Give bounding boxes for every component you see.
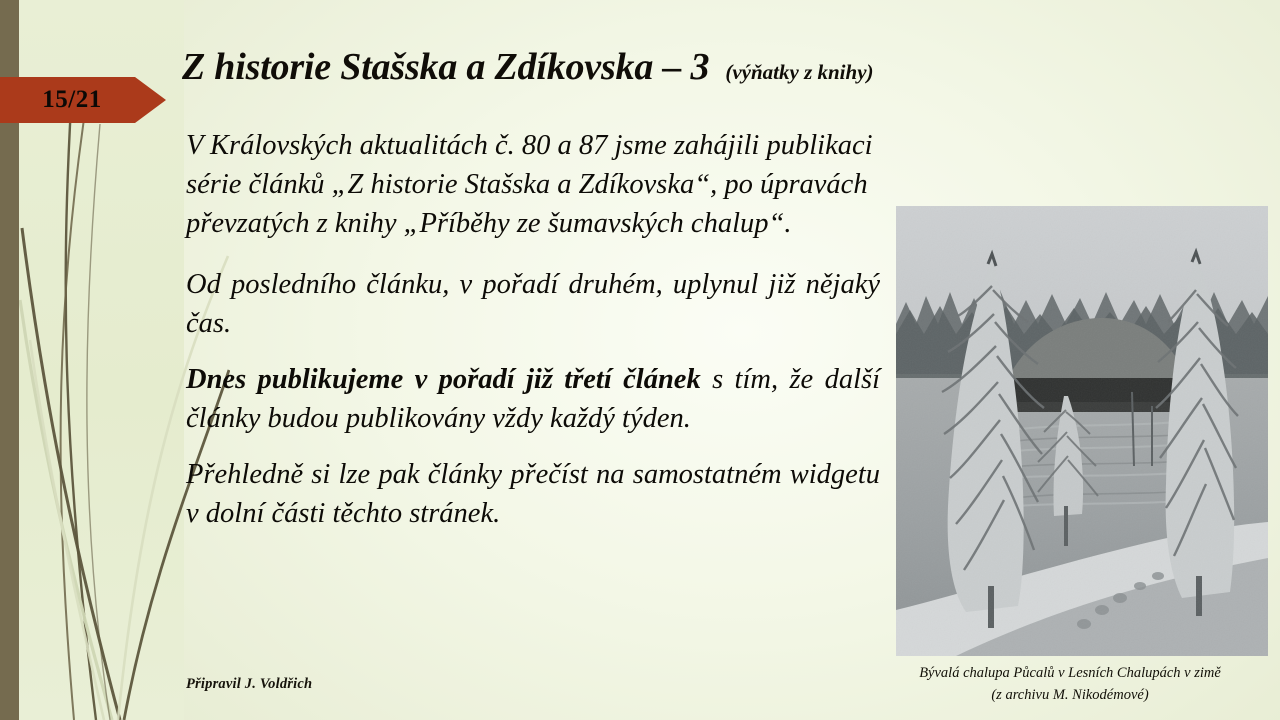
presentation-slide: 15/21 Z historie Stašska a Zdíkovska – 3… [0, 0, 1280, 720]
photo-caption: Bývalá chalupa Půcalů v Lesních Chalupác… [860, 662, 1280, 707]
slide-number-badge: 15/21 [0, 77, 166, 123]
slide-body-text: V Královských aktualitách č. 80 a 87 jsm… [186, 126, 880, 533]
paragraph-widget-note: Přehledně si lze pak články přečíst na s… [186, 455, 880, 533]
photo-caption-line-2: (z archivu M. Nikodémové) [860, 684, 1280, 706]
winter-photo-cottage-in-snow [896, 206, 1268, 656]
paragraph-intro: V Královských aktualitách č. 80 a 87 jsm… [186, 126, 880, 243]
slide-number-label: 15/21 [0, 77, 166, 123]
footer-author: Připravil J. Voldřich [186, 676, 312, 693]
slide-title-row: Z historie Stašska a Zdíkovska – 3 (výňa… [182, 48, 1240, 88]
page-subtitle: (výňatky z knihy) [725, 60, 873, 85]
photo-frame [896, 206, 1268, 656]
page-title: Z historie Stašska a Zdíkovska – 3 [182, 48, 709, 88]
photo-caption-line-1: Bývalá chalupa Půcalů v Lesních Chalupác… [860, 662, 1280, 684]
paragraph-third-article: Dnes publikujeme v pořadí již třetí člán… [186, 360, 880, 438]
paragraph-third-article-bold: Dnes publikujeme v pořadí již třetí člán… [186, 364, 701, 395]
paragraph-since-last: Od posledního článku, v pořadí druhém, u… [186, 265, 880, 343]
photo-artwork [896, 206, 1268, 656]
